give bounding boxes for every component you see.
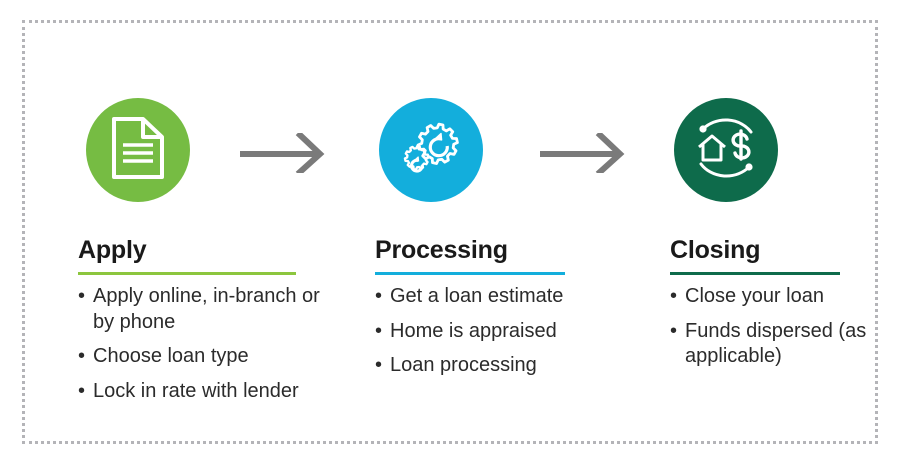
processing-accent-rule xyxy=(375,272,565,275)
closing-heading: Closing xyxy=(670,238,870,263)
processing-icon-circle xyxy=(379,98,483,202)
house-dollar-refresh-icon xyxy=(693,117,759,184)
apply-heading-wrap: Apply xyxy=(78,238,328,275)
processing-heading-wrap: Processing xyxy=(375,238,615,275)
apply-icon-circle xyxy=(86,98,190,202)
processing-heading: Processing xyxy=(375,238,615,263)
list-item: Get a loan estimate xyxy=(375,284,615,310)
closing-accent-rule xyxy=(670,272,840,275)
arrow-right-icon-2 xyxy=(538,133,630,178)
document-icon xyxy=(110,116,166,185)
list-item: Lock in rate with lender xyxy=(78,379,328,405)
apply-bullet-list: Apply online, in-branch or by phone Choo… xyxy=(78,284,328,404)
list-item: Funds dispersed (as applicable) xyxy=(670,319,870,370)
list-item: Close your loan xyxy=(670,284,870,310)
process-step-closing: Closing Close your loan Funds dispersed … xyxy=(670,98,870,379)
list-item: Apply online, in-branch or by phone xyxy=(78,284,328,335)
arrow-right-icon-1 xyxy=(238,133,330,178)
closing-heading-wrap: Closing xyxy=(670,238,870,275)
apply-accent-rule xyxy=(78,272,296,275)
closing-bullet-list: Close your loan Funds dispersed (as appl… xyxy=(670,284,870,370)
process-flow-diagram: Apply Apply online, in-branch or by phon… xyxy=(0,0,900,466)
list-item: Choose loan type xyxy=(78,344,328,370)
processing-bullet-list: Get a loan estimate Home is appraised Lo… xyxy=(375,284,615,379)
gears-icon xyxy=(400,117,462,184)
closing-icon-circle xyxy=(674,98,778,202)
list-item: Home is appraised xyxy=(375,319,615,345)
list-item: Loan processing xyxy=(375,353,615,379)
apply-heading: Apply xyxy=(78,238,328,263)
